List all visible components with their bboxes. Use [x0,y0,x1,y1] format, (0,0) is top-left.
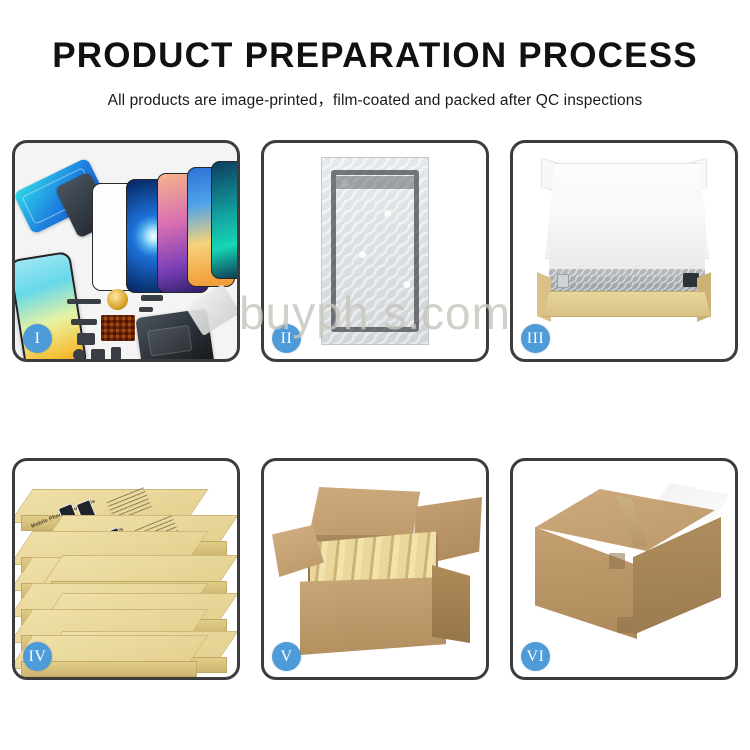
camera-module-part [91,349,105,359]
step-badge-4: IV [23,642,52,671]
vibrator-part [111,347,121,359]
gold-coil-part [107,289,128,310]
bubble-wrap-illustration [264,143,486,359]
step-badge-2: II [272,324,301,353]
button-part [73,349,85,359]
step-panel-stacked-kraft-boxes[interactable]: Mobile Phone Spare Parts Mobile Phone Sp… [12,458,240,680]
stack-box-5 [51,555,227,577]
carton-front-face [300,577,446,655]
screw-strip-part [139,307,153,312]
teal-gradient-phone [211,161,237,279]
step-panel-open-kraft-box[interactable]: III [510,140,738,362]
sealed-carton-illustration [513,461,735,677]
box-interior [549,203,705,271]
open-carton-illustration [264,461,486,677]
page-title: PRODUCT PREPARATION PROCESS [0,38,750,75]
chip-array-part [101,315,135,341]
process-step-grid: I II III [12,140,738,678]
step-badge-6: VI [521,642,550,671]
step-panel-open-carton-filled[interactable]: V [261,458,489,680]
header: PRODUCT PREPARATION PROCESS All products… [0,38,750,110]
box-front-panel [543,291,711,317]
step-badge-1: I [23,324,52,353]
phone-parts-illustration [15,143,237,359]
box-stack: Mobile Phone Spare Parts Mobile Phone Sp… [21,483,237,673]
step-panel-sealed-carton[interactable]: VI [510,458,738,680]
box-stack-illustration: Mobile Phone Spare Parts Mobile Phone Sp… [15,461,237,677]
page-subtitle: All products are image-printed，film-coat… [0,88,750,110]
step-panel-bubble-wrapped-screen[interactable]: II [261,140,489,362]
carton-side-face [432,565,470,643]
carton-seam-patch-bottom [617,617,633,633]
flex-cable-part [71,319,97,325]
stack-box-3 [21,531,197,553]
bubble-wrapped-screen [321,157,429,345]
connector-strip-part [67,299,101,304]
step-badge-5: V [272,642,301,671]
antenna-part [141,295,163,301]
open-kraft-box-illustration [513,143,735,359]
step-panel-phone-screens-and-parts[interactable]: I [12,140,240,362]
wrapped-screen-in-box [549,269,705,293]
product-preparation-process-page: PRODUCT PREPARATION PROCESS All products… [0,0,750,750]
step-badge-3: III [521,324,550,353]
speaker-part [77,333,95,345]
carton-seam-patch-top [609,553,625,569]
stack-box-8 [21,609,197,631]
